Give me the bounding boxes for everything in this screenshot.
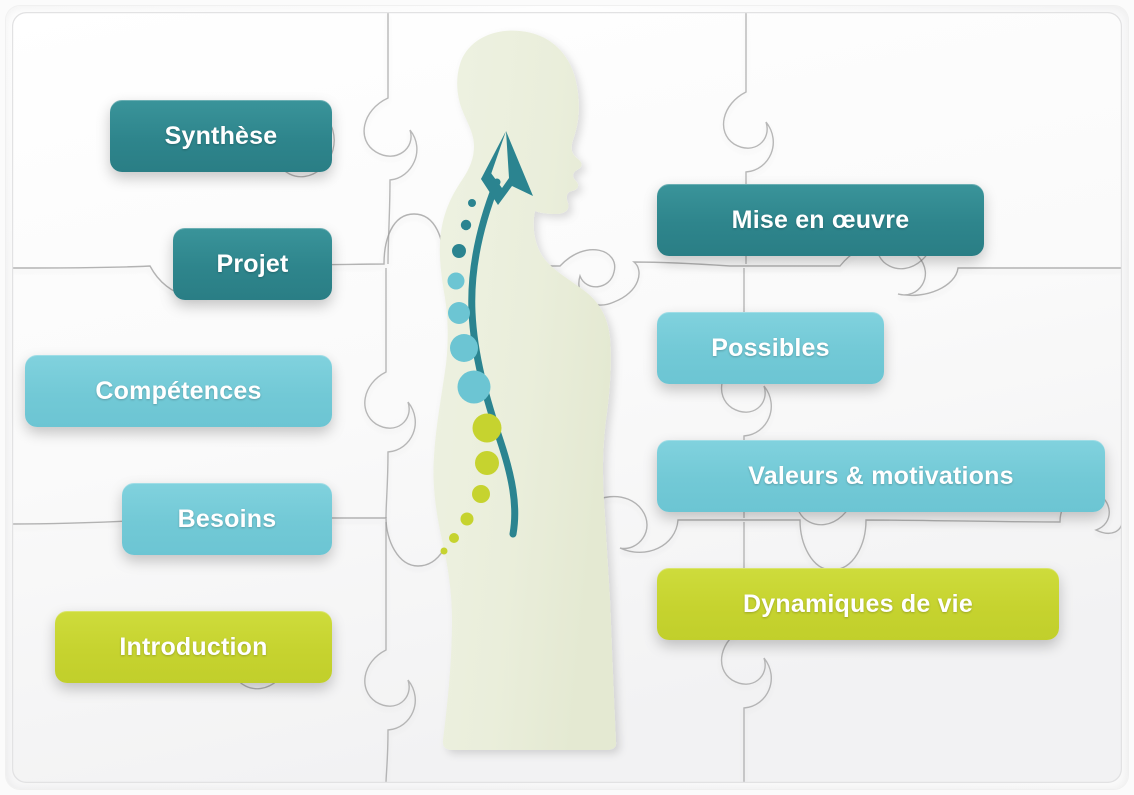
chip-besoins[interactable]: Besoins xyxy=(122,483,332,555)
spine-dot xyxy=(475,451,499,475)
spine-dot xyxy=(448,302,470,324)
spine-dot xyxy=(461,513,474,526)
spine-dot xyxy=(449,533,459,543)
chip-label: Dynamiques de vie xyxy=(743,590,973,619)
chip-projet[interactable]: Projet xyxy=(173,228,332,300)
chip-label: Mise en œuvre xyxy=(732,206,910,235)
chip-label: Besoins xyxy=(178,505,277,534)
spine-dot xyxy=(461,220,471,230)
spine-dot xyxy=(468,199,476,207)
spine-dot xyxy=(458,371,491,404)
chip-label: Projet xyxy=(216,250,288,279)
chip-dynamiques-de-vie[interactable]: Dynamiques de vie xyxy=(657,568,1059,640)
chip-possibles[interactable]: Possibles xyxy=(657,312,884,384)
chip-label: Introduction xyxy=(119,633,267,662)
spine-dot xyxy=(473,414,502,443)
chip-mise-en-oeuvre[interactable]: Mise en œuvre xyxy=(657,184,984,256)
chip-label: Synthèse xyxy=(165,122,278,151)
spine-dot xyxy=(448,273,465,290)
chip-introduction[interactable]: Introduction xyxy=(55,611,332,683)
diagram-canvas: SynthèseProjetCompétencesBesoinsIntroduc… xyxy=(0,0,1134,795)
spine-dot xyxy=(452,244,466,258)
chip-competences[interactable]: Compétences xyxy=(25,355,332,427)
chip-label: Possibles xyxy=(711,334,830,363)
chip-label: Compétences xyxy=(95,377,261,406)
spine-dot xyxy=(450,334,478,362)
chip-label: Valeurs & motivations xyxy=(748,462,1013,491)
chip-valeurs-and-motivations[interactable]: Valeurs & motivations xyxy=(657,440,1105,512)
chip-synthese[interactable]: Synthèse xyxy=(110,100,332,172)
spine-dot xyxy=(441,548,448,555)
spine-dot xyxy=(472,485,490,503)
